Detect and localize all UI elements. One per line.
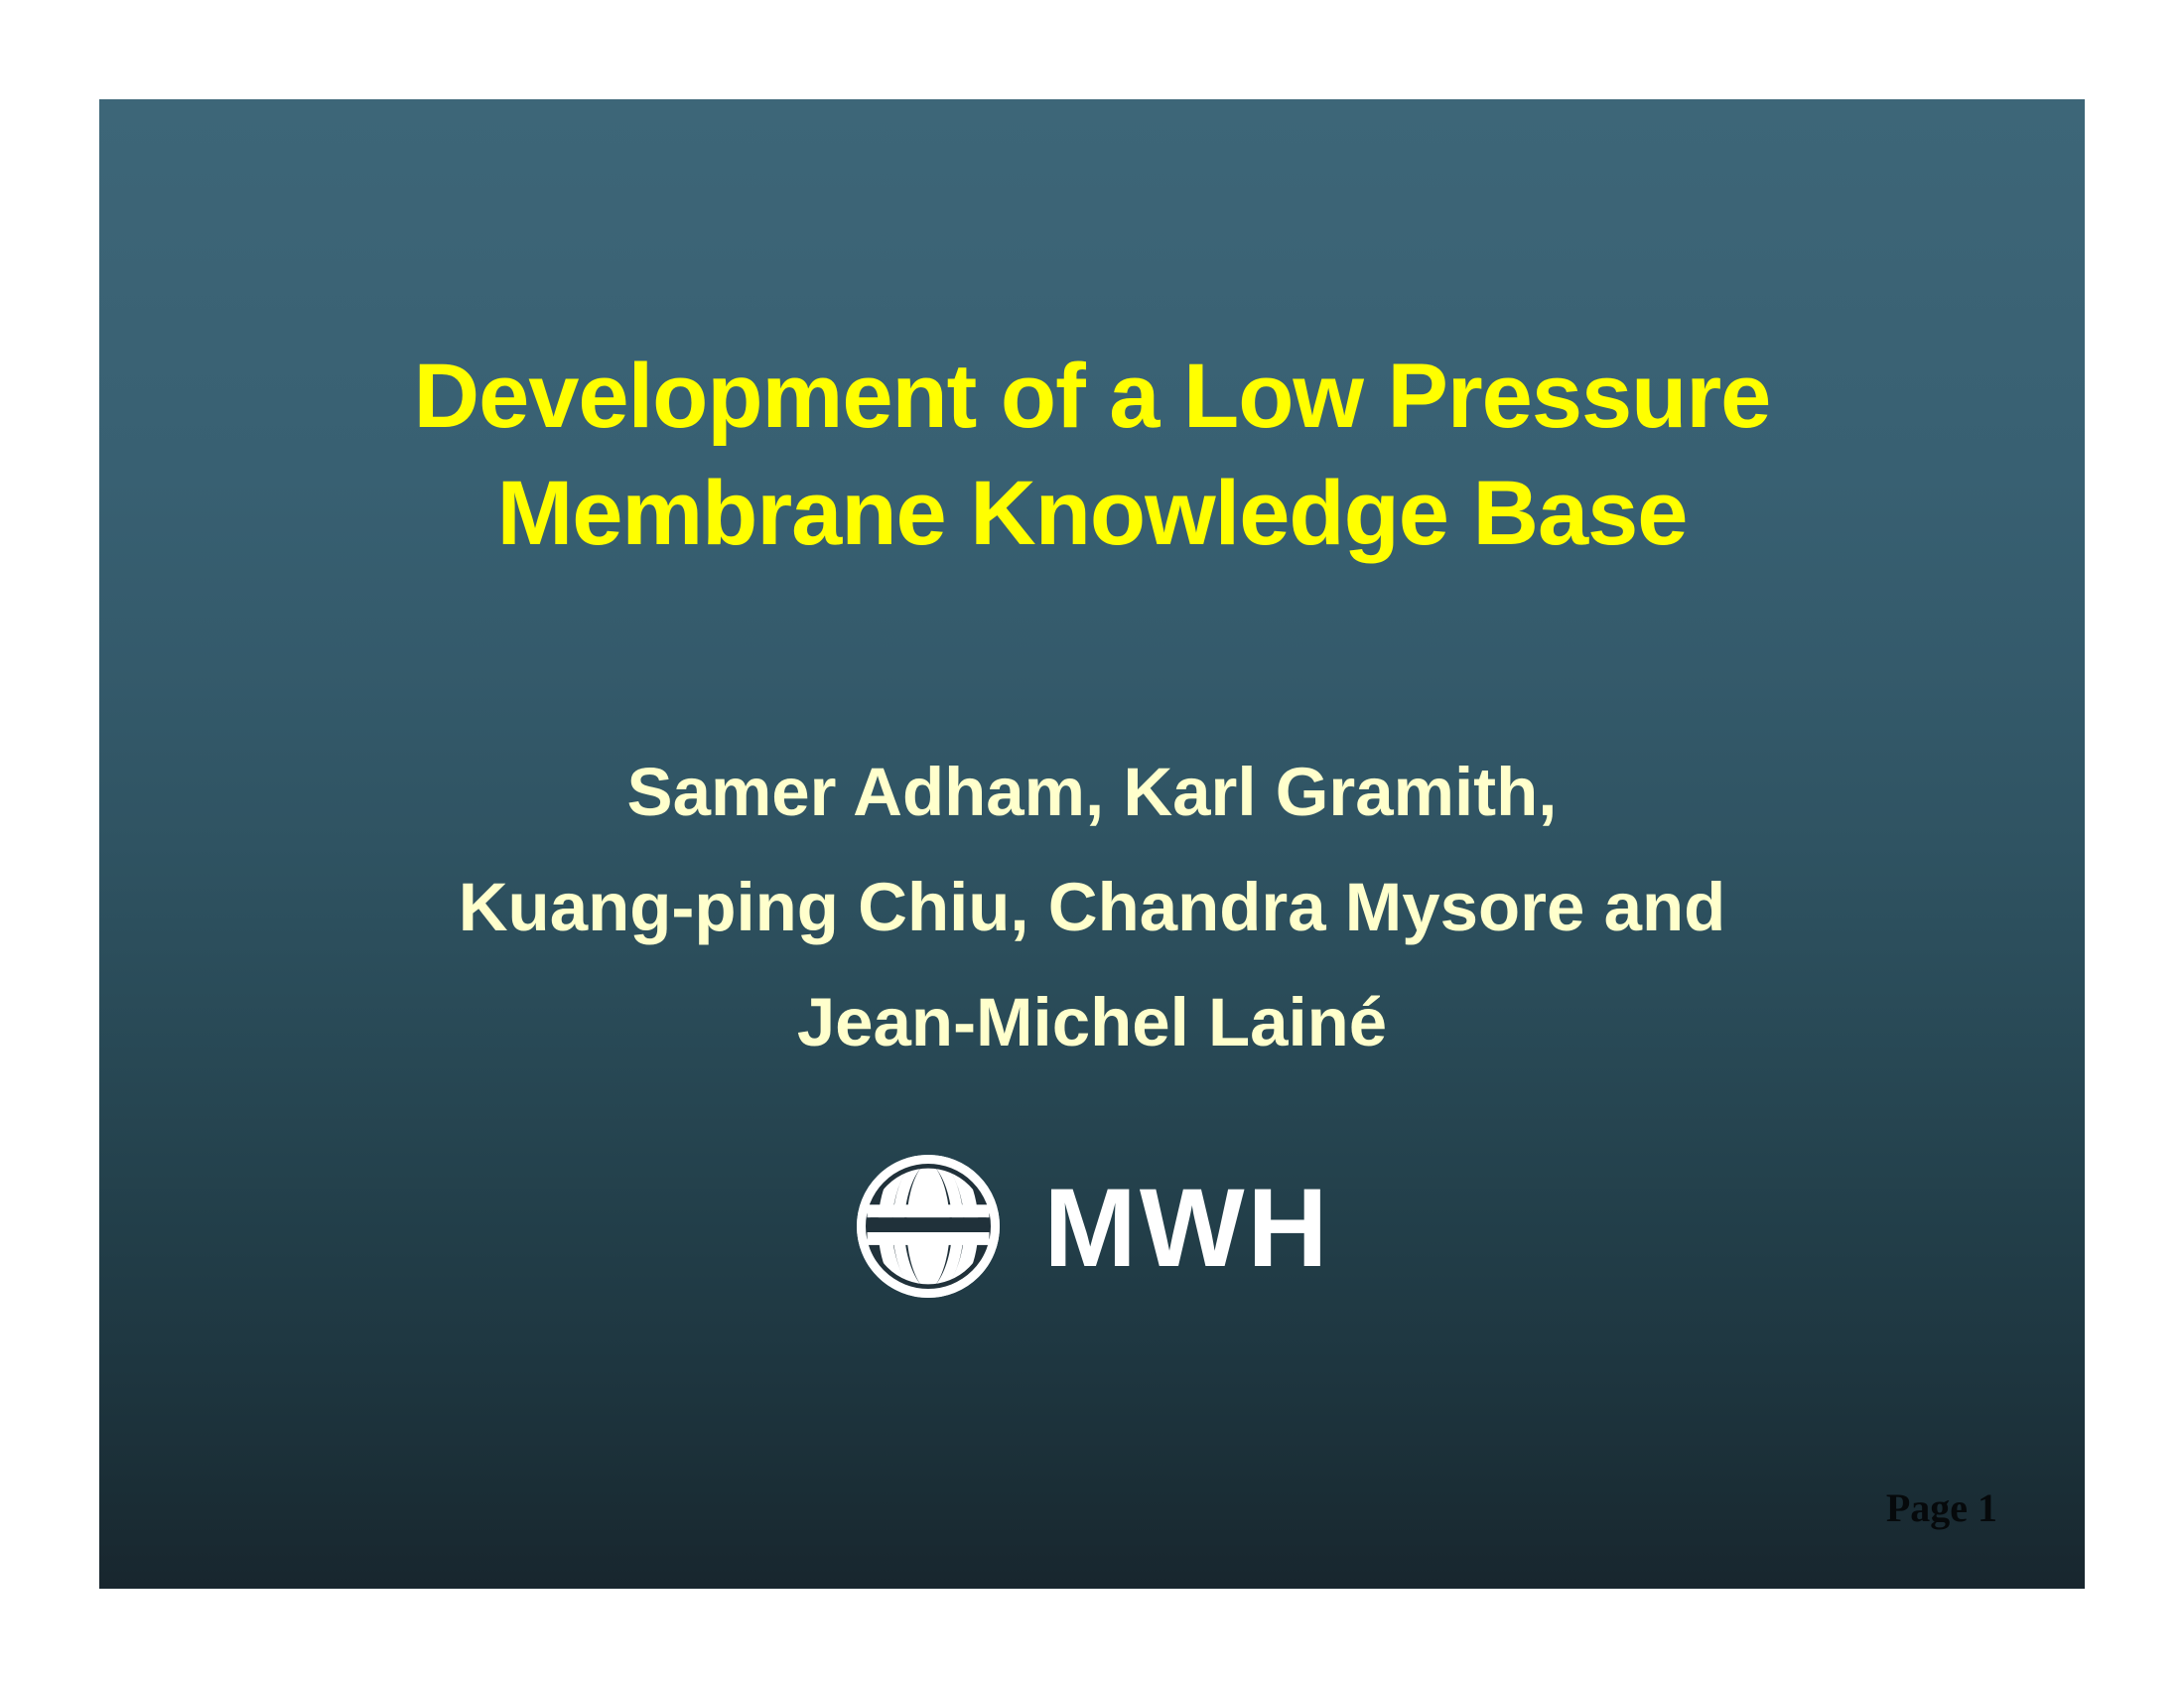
author-line-2: Kuang-ping Chiu, Chandra Mysore and xyxy=(99,850,2085,965)
mwh-logo: MWH xyxy=(99,1152,2085,1301)
globe-icon xyxy=(854,1152,1003,1301)
mwh-wordmark: MWH xyxy=(1044,1173,1331,1284)
author-line-1: Samer Adham, Karl Gramith, xyxy=(99,735,2085,850)
author-line-3: Jean-Michel Lainé xyxy=(99,965,2085,1080)
slide-title: Development of a Low Pressure Membrane K… xyxy=(99,338,2085,572)
title-line-2: Membrane Knowledge Base xyxy=(99,455,2085,572)
page-number: Page 1 xyxy=(1886,1485,1997,1531)
presentation-slide: Development of a Low Pressure Membrane K… xyxy=(99,99,2085,1589)
author-list: Samer Adham, Karl Gramith, Kuang-ping Ch… xyxy=(99,735,2085,1080)
page-canvas: Development of a Low Pressure Membrane K… xyxy=(0,0,2184,1688)
title-line-1: Development of a Low Pressure xyxy=(99,338,2085,455)
